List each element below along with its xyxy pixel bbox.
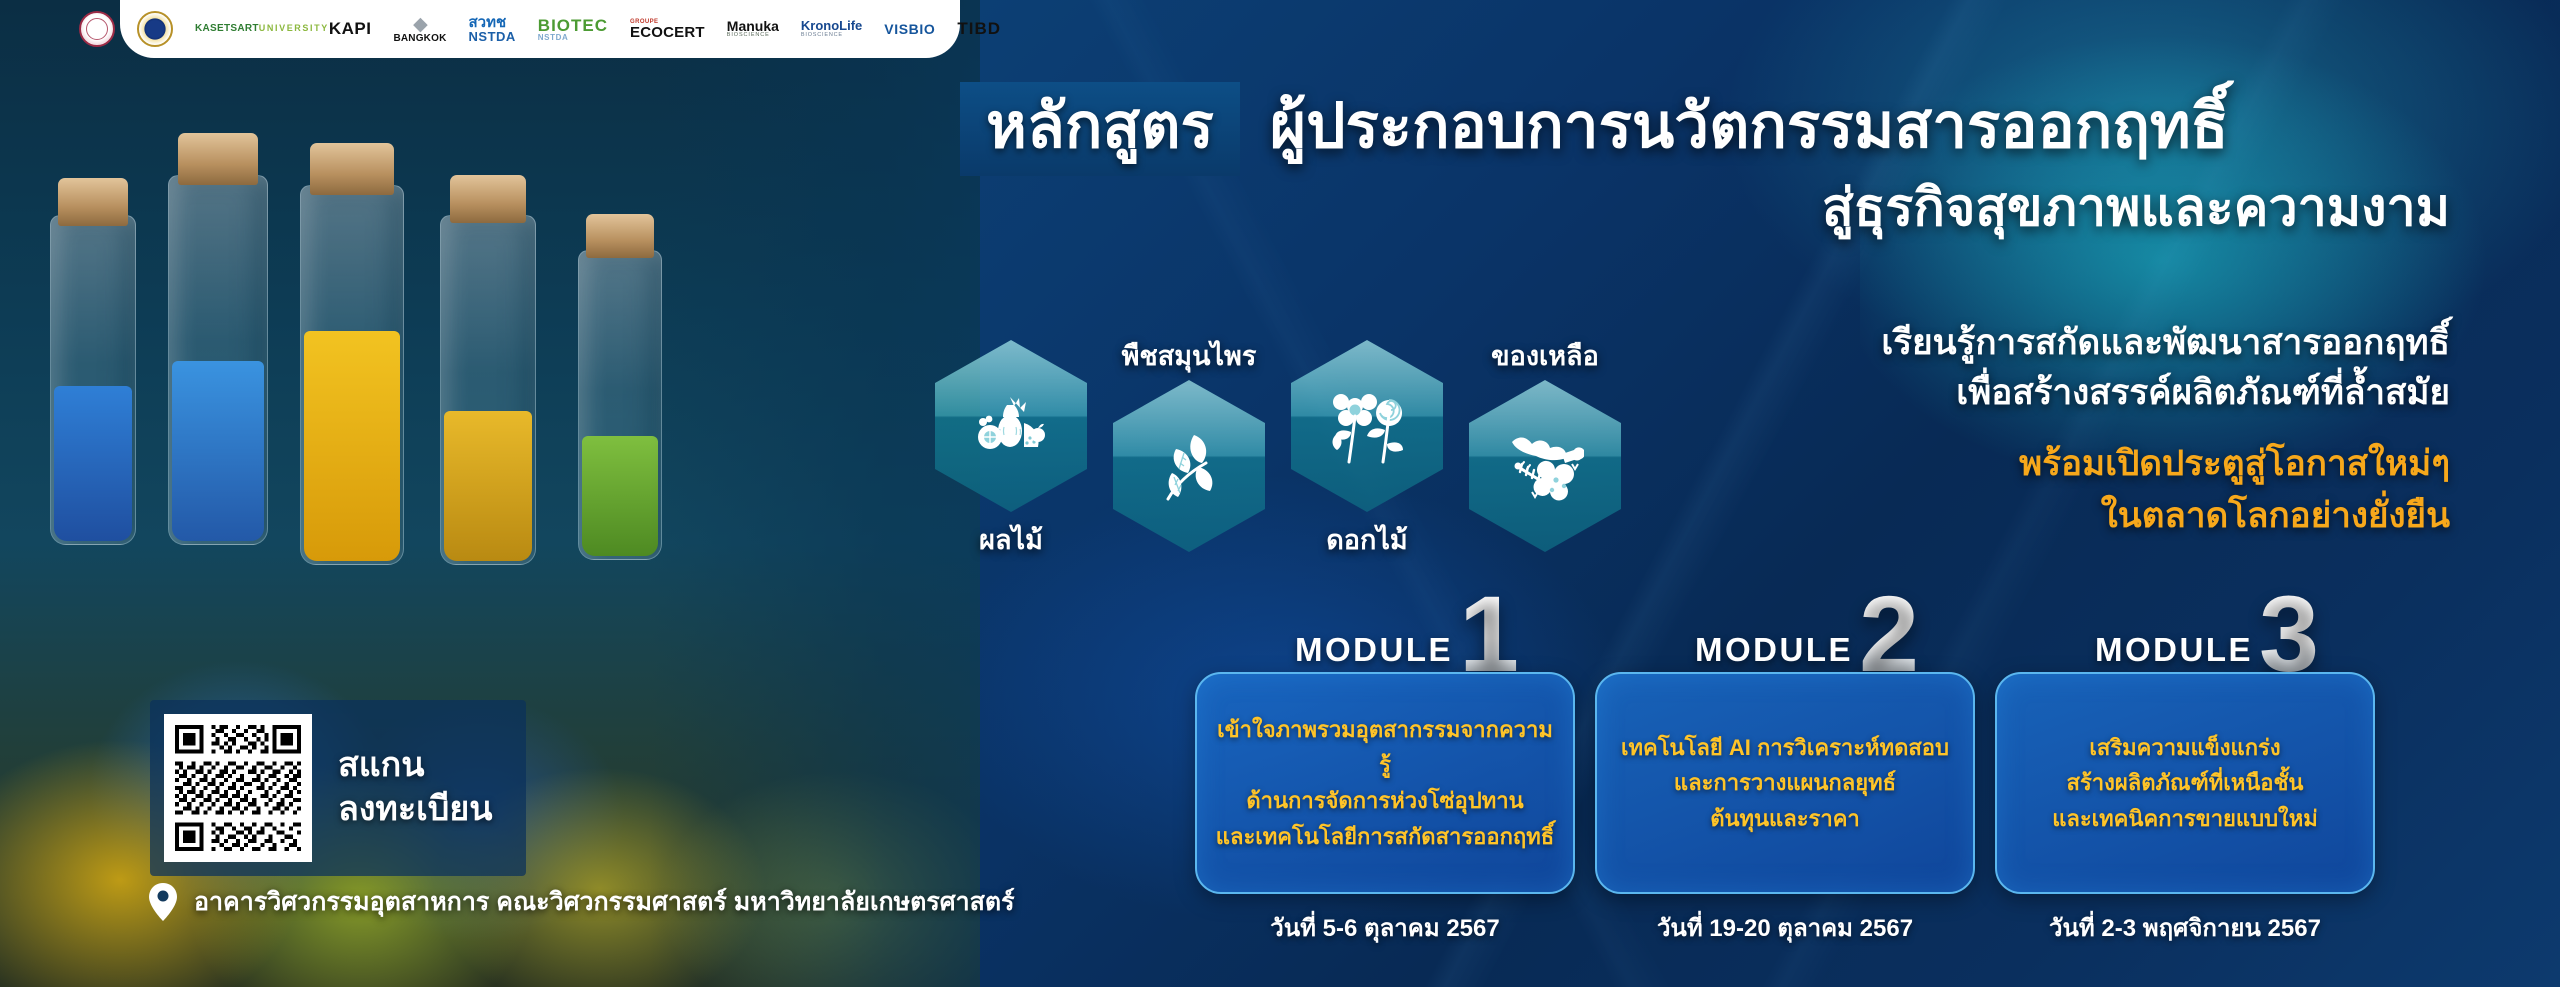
kapi-line1: KASETSART	[195, 24, 259, 34]
kasetsart-seal-icon	[137, 11, 173, 47]
hex-item-waste: ของเหลือ	[1469, 380, 1621, 552]
highlight-line-1: พร้อมเปิดประตูสู่โอกาสใหม่ๆ	[1881, 439, 2450, 489]
module-3-number: 3	[2259, 590, 2317, 679]
hex-item-flower: ดอกไม้	[1291, 340, 1443, 512]
title-row: หลักสูตร ผู้ประกอบการนวัตกรรมสารออกฤทธิ์	[960, 82, 2229, 176]
venue-row: อาคารวิศวกรรมอุตสาหการ คณะวิศวกรรมศาสตร์…	[148, 882, 1015, 922]
kasetsart-seal-logo	[137, 8, 173, 50]
module-1-line-3: และเทคโนโลยีการสกัดสารออกฤทธิ์	[1215, 819, 1555, 855]
herb-leaf-icon	[1154, 429, 1224, 503]
royal-seal-icon	[79, 11, 115, 47]
bottle	[578, 250, 662, 560]
visbio-name: VISBIO	[884, 21, 935, 37]
hex-label-fruit: ผลไม้	[935, 518, 1087, 561]
food-waste-icon	[1506, 428, 1584, 504]
register-label-line-2: ลงทะเบียน	[338, 788, 492, 832]
title-main: ผู้ประกอบการนวัตกรรมสารออกฤทธิ์	[1270, 96, 2229, 158]
module-2-line-2: และการวางแผนกลยุทธ์	[1621, 765, 1949, 801]
kronolife-name: KronoLife	[801, 19, 862, 33]
ecocert-logo: GROUPE ECOCERT	[630, 8, 705, 50]
hex-item-herb: พืชสมุนไพร	[1113, 380, 1265, 552]
ecocert-name: ECOCERT	[630, 25, 705, 40]
module-2-line-1: เทคโนโลยี AI การวิเคราะห์ทดสอบ	[1621, 730, 1949, 766]
module-3-line-1: เสริมความแข็งแกร่ง	[2052, 730, 2318, 766]
kapi-line3: KAPI	[329, 20, 372, 37]
module-1-line-1: เข้าใจภาพรวมอุตสากรรมจากความรู้	[1215, 712, 1555, 783]
module-2-date: วันที่ 19-20 ตุลาคม 2567	[1595, 908, 1975, 947]
hex-shape	[1469, 380, 1621, 552]
visbio-logo: VISBIO	[884, 8, 935, 50]
description-line-1: เรียนรู้การสกัดและพัฒนาสารออกฤทธิ์	[1881, 318, 2450, 368]
module-card-1[interactable]: เข้าใจภาพรวมอุตสากรรมจากความรู้ ด้านการจ…	[1195, 672, 1575, 894]
manuka-logo: Manuka BIOSCIENCE	[727, 8, 779, 50]
registration-block[interactable]: สแกน ลงทะเบียน	[150, 700, 526, 876]
tibd-name: TIBD	[957, 19, 1001, 39]
module-1-number: 1	[1459, 590, 1517, 679]
kronolife-sub: BIOSCIENCE	[801, 33, 862, 39]
partner-logo-bar: KASETSART UNIVERSITY KAPI ◆ BANGKOK สวทช…	[120, 0, 960, 58]
hex-item-fruit: ผลไม้	[935, 340, 1087, 512]
kronolife-logo: KronoLife BIOSCIENCE	[801, 8, 862, 50]
register-label-line-1: สแกน	[338, 744, 492, 788]
hex-label-herb: พืชสมุนไพร	[1099, 334, 1279, 377]
bottle	[300, 185, 404, 565]
module-2-line-3: ต้นทุนและราคา	[1621, 801, 1949, 837]
nstda-latin: NSTDA	[469, 30, 516, 43]
hex-shape	[1113, 380, 1265, 552]
modules-group: MODULE 1 เข้าใจภาพรวมอุตสากรรมจากความรู้…	[1195, 590, 2425, 960]
bangkok-label: BANGKOK	[393, 34, 446, 44]
cork	[178, 133, 258, 185]
tibd-logo: TIBD	[957, 8, 1001, 50]
qr-code-icon[interactable]	[164, 714, 312, 862]
bottle	[168, 175, 268, 545]
flower-icon	[1329, 386, 1405, 466]
cork	[450, 175, 526, 223]
biotec-sub: NSTDA	[538, 34, 608, 42]
cork	[310, 143, 394, 195]
bangkok-logo: ◆ BANGKOK	[393, 8, 446, 50]
description-line-2: เพื่อสร้างสรรค์ผลิตภัณฑ์ที่ล้ำสมัย	[1881, 368, 2450, 418]
cork	[586, 214, 654, 258]
module-3-body: เสริมความแข็งแกร่ง สร้างผลิตภัณฑ์ที่เหนื…	[2034, 730, 2336, 837]
description-block: เรียนรู้การสกัดและพัฒนาสารออกฤทธิ์ เพื่อ…	[1881, 318, 2450, 541]
nstda-logo: สวทช NSTDA	[469, 8, 516, 50]
venue-text: อาคารวิศวกรรมอุตสาหการ คณะวิศวกรรมศาสตร์…	[194, 882, 1015, 922]
source-materials-group: ผลไม้ พืชสมุนไพร	[935, 300, 1655, 550]
module-3-line-3: และเทคนิคการขายแบบใหม่	[2052, 801, 2318, 837]
kapi-line2: UNIVERSITY	[259, 24, 329, 33]
biotec-name: BIOTEC	[538, 17, 608, 34]
module-card-2[interactable]: เทคโนโลยี AI การวิเคราะห์ทดสอบ และการวาง…	[1595, 672, 1975, 894]
module-2-number: 2	[1859, 590, 1917, 679]
module-3-heading: MODULE 3	[2095, 590, 2317, 679]
cork	[58, 178, 128, 226]
module-2-heading: MODULE 2	[1695, 590, 1917, 679]
module-1-line-2: ด้านการจัดการห่วงโซ่อุปทาน	[1215, 783, 1555, 819]
diamond-icon: ◆	[393, 15, 446, 34]
nstda-thai: สวทช	[469, 15, 516, 30]
biotec-logo: BIOTEC NSTDA	[538, 8, 608, 50]
kapi-logo: KASETSART UNIVERSITY KAPI	[195, 8, 371, 50]
bottle	[50, 215, 136, 545]
promo-banner: KASETSART UNIVERSITY KAPI ◆ BANGKOK สวทช…	[0, 0, 2560, 987]
module-card-3[interactable]: เสริมความแข็งแกร่ง สร้างผลิตภัณฑ์ที่เหนื…	[1995, 672, 2375, 894]
hex-shape	[935, 340, 1087, 512]
module-1-date: วันที่ 5-6 ตุลาคม 2567	[1195, 908, 1575, 947]
manuka-name: Manuka	[727, 19, 779, 34]
module-3-date: วันที่ 2-3 พฤศจิกายน 2567	[1995, 908, 2375, 947]
module-3-line-2: สร้างผลิตภัณฑ์ที่เหนือชั้น	[2052, 765, 2318, 801]
highlight-line-2: ในตลาดโลกอย่างยั่งยืน	[1881, 491, 2450, 541]
title-subtitle: สู่ธุรกิจสุขภาพและความงาม	[1822, 182, 2450, 234]
hex-label-flower: ดอกไม้	[1291, 518, 1443, 561]
module-1-heading: MODULE 1	[1295, 590, 1517, 679]
location-pin-icon	[148, 882, 178, 922]
title-badge: หลักสูตร	[960, 82, 1240, 176]
royal-seal-logo	[79, 8, 115, 50]
module-1-body: เข้าใจภาพรวมอุตสากรรมจากความรู้ ด้านการจ…	[1197, 712, 1573, 855]
hex-label-waste: ของเหลือ	[1461, 334, 1629, 377]
register-label: สแกน ลงทะเบียน	[338, 744, 492, 831]
fruit-icon	[974, 395, 1048, 457]
manuka-sub: BIOSCIENCE	[727, 33, 779, 39]
bottle	[440, 215, 536, 565]
module-2-body: เทคโนโลยี AI การวิเคราะห์ทดสอบ และการวาง…	[1603, 730, 1967, 837]
hex-shape	[1291, 340, 1443, 512]
